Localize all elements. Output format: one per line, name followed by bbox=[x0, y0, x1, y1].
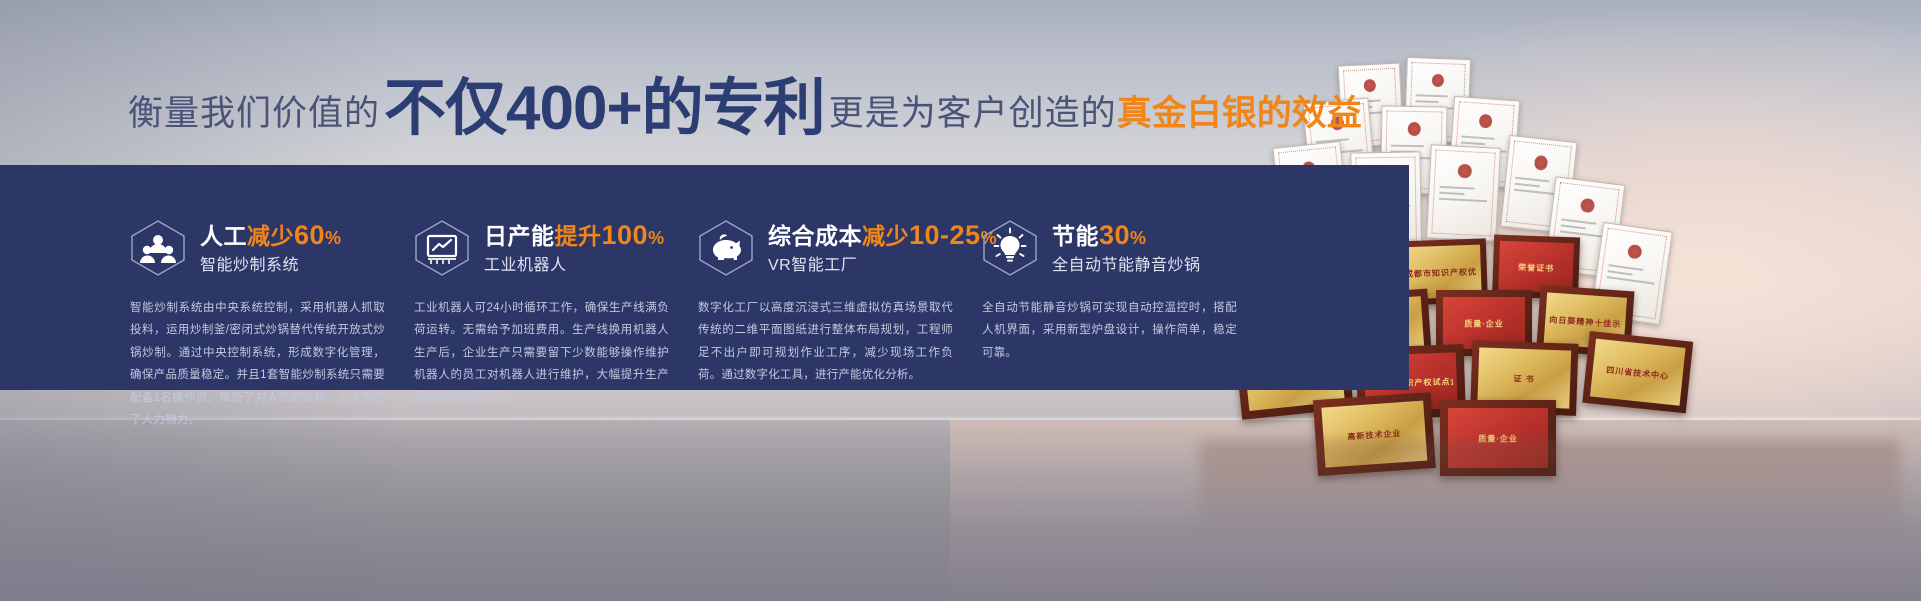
feature-title-orange: 减少 bbox=[247, 223, 294, 249]
feature-title-number: 30 bbox=[1099, 220, 1130, 250]
feature-subtitle: 智能炒制系统 bbox=[200, 257, 299, 274]
certificate-item bbox=[1426, 144, 1501, 242]
feature-list: 人工减少60% 智能炒制系统 智能炒制系统由中央系统控制，采用机器人抓取投料，运… bbox=[0, 165, 1409, 390]
feature-title-plain: 节能 bbox=[1052, 223, 1099, 249]
lightbulb-icon bbox=[982, 219, 1038, 277]
piggy-bank-icon bbox=[698, 219, 754, 277]
feature-title-unit: % bbox=[648, 228, 665, 248]
feature-body: 全自动节能静音炒锅可实现自动控温控时，搭配人机界面，采用新型炉盘设计，操作简单，… bbox=[982, 297, 1237, 364]
feature-item-cost[interactable]: 综合成本减少10-25% VR智能工厂 数字化工厂以高度沉浸式三维虚拟仿真场景取… bbox=[698, 165, 958, 390]
feature-title-number: 60 bbox=[294, 220, 325, 250]
feature-title-number: 100 bbox=[602, 220, 649, 250]
team-people-icon bbox=[130, 219, 186, 277]
award-plaque: 四川省技术中心 bbox=[1582, 331, 1693, 413]
feature-title-unit: % bbox=[1130, 228, 1147, 248]
plaque-caption: 质量·企业 bbox=[1464, 317, 1504, 329]
plaque-caption: 荣誉证书 bbox=[1518, 261, 1554, 274]
headline-lead: 衡量我们价值的 bbox=[128, 85, 380, 136]
headline-middle: 更是为客户创造的 bbox=[829, 85, 1117, 136]
feature-item-capacity[interactable]: 日产能提升100% 工业机器人 工业机器人可24小时循环工作，确保生产线满负荷运… bbox=[414, 165, 674, 390]
feature-title-number: 10-25 bbox=[909, 220, 981, 250]
feature-title: 综合成本减少10-25% bbox=[768, 223, 997, 249]
feature-title: 节能30% bbox=[1052, 223, 1147, 249]
headline-emphasis: 不仅400+的专利 bbox=[384, 78, 825, 140]
feature-item-energy[interactable]: 节能30% 全自动节能静音炒锅 全自动节能静音炒锅可实现自动控温控时，搭配人机界… bbox=[982, 165, 1242, 390]
plaque-caption: 四川省技术中心 bbox=[1606, 363, 1670, 381]
banner-stage: 成都市知识产权优势企业 荣誉证书 高新技术企业 质量·企业 向日葵精神十佳示范者… bbox=[0, 0, 1921, 601]
feature-title-plain: 日产能 bbox=[484, 223, 555, 249]
feature-subtitle: VR智能工厂 bbox=[768, 257, 857, 274]
feature-subtitle: 工业机器人 bbox=[484, 257, 567, 274]
feature-title-unit: % bbox=[325, 228, 342, 248]
feature-title: 日产能提升100% bbox=[484, 223, 665, 249]
feature-body: 数字化工厂以高度沉浸式三维虚拟仿真场景取代传统的二维平面图纸进行整体布局规划，工… bbox=[698, 297, 953, 387]
feature-title-orange: 提升 bbox=[555, 223, 602, 249]
headline-accent: 真金白银的效益 bbox=[1117, 85, 1362, 136]
plaque-caption: 证 书 bbox=[1513, 372, 1535, 384]
wall-reflection bbox=[1200, 440, 1900, 560]
feature-title-plain: 综合成本 bbox=[768, 223, 862, 249]
feature-subtitle: 全自动节能静音炒锅 bbox=[1052, 257, 1201, 274]
feature-title-plain: 人工 bbox=[200, 223, 247, 249]
page-title: 衡量我们价值的 不仅400+的专利 更是为客户创造的 真金白银的效益 bbox=[128, 74, 1362, 136]
feature-item-labor[interactable]: 人工减少60% 智能炒制系统 智能炒制系统由中央系统控制，采用机器人抓取投料，运… bbox=[130, 165, 390, 390]
feature-title: 人工减少60% bbox=[200, 223, 342, 249]
feature-body: 智能炒制系统由中央系统控制，采用机器人抓取投料，运用炒制釜/密闭式炒锅替代传统开… bbox=[130, 297, 385, 432]
chart-monitor-icon bbox=[414, 219, 470, 277]
plaque-caption: 成都市知识产权优势企业 bbox=[1405, 265, 1477, 279]
feature-body: 工业机器人可24小时循环工作，确保生产线满负荷运转。无需给予加班费用。生产线换用… bbox=[414, 297, 669, 409]
plaque-caption: 向日葵精神十佳示范者 bbox=[1549, 313, 1622, 330]
feature-title-orange: 减少 bbox=[862, 223, 909, 249]
